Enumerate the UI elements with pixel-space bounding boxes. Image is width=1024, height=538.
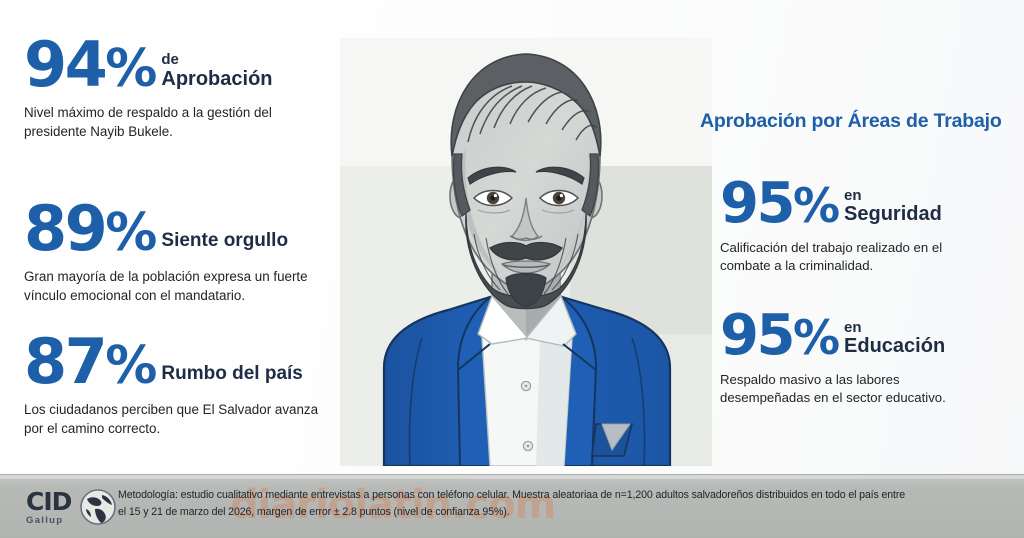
stat-description-seguridad: Calificación del trabajo realizado en el… — [720, 239, 988, 276]
stat-value-orgullo: 89% — [24, 200, 154, 258]
stat-block-aprobacion: 94% de Aprobación Nivel máximo de respal… — [24, 36, 354, 141]
stat-label-line1: de — [161, 52, 272, 68]
stat-headline: 95% en Educación — [720, 310, 1020, 362]
stat-headline: 89% Siente orgullo — [24, 200, 354, 258]
stat-value-educacion: 95% — [720, 310, 837, 362]
logo-wordmark: CID Gallup — [26, 489, 71, 526]
stat-label-seguridad: en Seguridad — [837, 188, 942, 229]
globe-icon — [78, 487, 118, 527]
right-stats-column: Aprobación por Áreas de Trabajo 95% en S… — [700, 110, 1020, 133]
stat-value-aprobacion: 94% — [24, 36, 154, 94]
stat-label-line2: Educación — [844, 335, 945, 357]
infographic-canvas: 94% de Aprobación Nivel máximo de respal… — [0, 0, 1024, 538]
stat-label-line2: Aprobación — [161, 68, 272, 90]
logo-secondary-text: Gallup — [26, 515, 71, 526]
stat-block-orgullo: 89% Siente orgullo Gran mayoría de la po… — [24, 200, 354, 305]
cid-gallup-logo: CID Gallup — [26, 489, 118, 529]
stat-block-rumbo: 87% Rumbo del país Los ciudadanos percib… — [24, 333, 354, 438]
stat-value-seguridad: 95% — [720, 178, 837, 230]
stat-label-line1: en — [844, 188, 942, 204]
footer-bar: diariolatin.com CID Gallup Metodología: … — [0, 474, 1024, 538]
portrait-illustration-nayib-bukele — [340, 38, 712, 466]
stat-description-orgullo: Gran mayoría de la población expresa un … — [24, 267, 336, 305]
stat-description-aprobacion: Nivel máximo de respaldo a la gestión de… — [24, 103, 336, 141]
methodology-line-1: Metodología: estudio cualitativo mediant… — [118, 489, 905, 501]
stat-block-educacion: 95% en Educación Respaldo masivo a las l… — [720, 310, 1020, 408]
methodology-text: Metodología: estudio cualitativo mediant… — [118, 487, 948, 521]
stat-label-rumbo: Rumbo del país — [154, 364, 302, 391]
stat-headline: 95% en Seguridad — [720, 178, 1020, 230]
stat-block-seguridad: 95% en Seguridad Calificación del trabaj… — [720, 178, 1020, 276]
logo-primary-text: CID — [26, 489, 71, 514]
stat-label-orgullo: Siente orgullo — [154, 231, 288, 258]
stat-description-educacion: Respaldo masivo a las labores desempeñad… — [720, 371, 988, 408]
stat-headline: 87% Rumbo del país — [24, 333, 354, 391]
stat-label-line1: en — [844, 320, 945, 336]
stat-value-rumbo: 87% — [24, 333, 154, 391]
section-title-areas-trabajo: Aprobación por Áreas de Trabajo — [700, 110, 1020, 133]
stat-label-line2: Seguridad — [844, 203, 942, 225]
stat-label-aprobacion: de Aprobación — [154, 52, 272, 93]
stat-description-rumbo: Los ciudadanos perciben que El Salvador … — [24, 400, 336, 438]
methodology-line-2: el 15 y 21 de marzo del 2026, margen de … — [118, 504, 948, 521]
portrait-panel — [340, 38, 712, 466]
stat-headline: 94% de Aprobación — [24, 36, 354, 94]
stat-label-educacion: en Educación — [837, 320, 945, 361]
